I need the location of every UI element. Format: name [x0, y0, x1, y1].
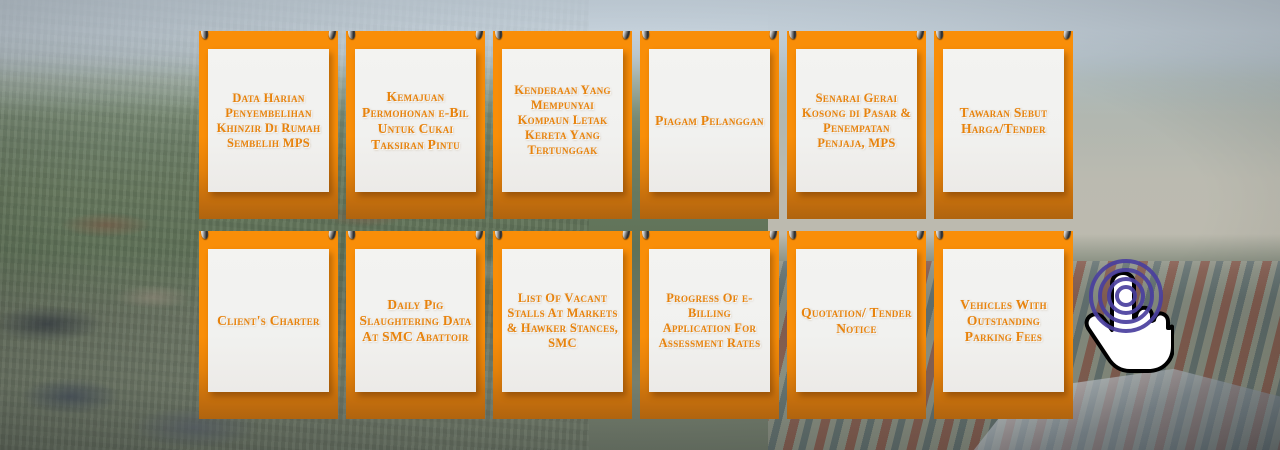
pushpin-icon [347, 231, 356, 239]
card-title: Data Harian Penyembelihan Khinzir Di Rum… [208, 91, 329, 151]
card-row-2: Client's Charter Daily Pig Slaughtering … [199, 231, 1079, 419]
dataset-card-progress-of-e-billing[interactable]: Progress Of e-Billing Application For As… [640, 231, 779, 419]
card-paper: List Of Vacant Stalls At Markets & Hawke… [502, 249, 623, 392]
pushpin-icon [769, 31, 778, 39]
pushpin-icon [916, 31, 925, 39]
pushpin-icon [641, 31, 650, 39]
card-title: Kemajuan Permohonan e-Bil Untuk Cukai Ta… [355, 89, 476, 153]
pushpin-icon [347, 31, 356, 39]
card-row-1: Data Harian Penyembelihan Khinzir Di Rum… [199, 31, 1079, 219]
card-paper: Kenderaan Yang Mempunyai Kompaun Letak K… [502, 49, 623, 192]
card-title: Vehicles With Outstanding Parking Fees [943, 297, 1064, 345]
card-paper: Piagam Pelanggan [649, 49, 770, 192]
card-title: Piagam Pelanggan [651, 113, 768, 129]
card-paper: Data Harian Penyembelihan Khinzir Di Rum… [208, 49, 329, 192]
card-title: Client's Charter [213, 313, 324, 329]
dataset-card-daily-pig-slaughtering-data[interactable]: Daily Pig Slaughtering Data At SMC Abatt… [346, 231, 485, 419]
screen-root: Data Harian Penyembelihan Khinzir Di Rum… [0, 0, 1280, 450]
dataset-card-quotation-tender-notice[interactable]: Quotation/ Tender Notice [787, 231, 926, 419]
card-paper: Quotation/ Tender Notice [796, 249, 917, 392]
card-paper: Vehicles With Outstanding Parking Fees [943, 249, 1064, 392]
card-paper: Progress Of e-Billing Application For As… [649, 249, 770, 392]
dataset-card-vehicles-outstanding-parking[interactable]: Vehicles With Outstanding Parking Fees [934, 231, 1073, 419]
dataset-card-list-of-vacant-stalls[interactable]: List Of Vacant Stalls At Markets & Hawke… [493, 231, 632, 419]
dataset-card-clients-charter[interactable]: Client's Charter [199, 231, 338, 419]
dataset-card-grid: Data Harian Penyembelihan Khinzir Di Rum… [199, 31, 1079, 419]
pushpin-icon [200, 231, 209, 239]
card-title: List Of Vacant Stalls At Markets & Hawke… [502, 291, 623, 351]
card-paper: Kemajuan Permohonan e-Bil Untuk Cukai Ta… [355, 49, 476, 192]
pushpin-icon [1063, 31, 1072, 39]
pushpin-icon [935, 31, 944, 39]
pushpin-icon [769, 231, 778, 239]
card-title: Daily Pig Slaughtering Data At SMC Abatt… [355, 297, 476, 345]
card-title: Kenderaan Yang Mempunyai Kompaun Letak K… [502, 83, 623, 158]
pushpin-icon [788, 231, 797, 239]
card-paper: Senarai Gerai Kosong di Pasar & Penempat… [796, 49, 917, 192]
pushpin-icon [475, 31, 484, 39]
pushpin-icon [200, 31, 209, 39]
dataset-card-senarai-gerai-kosong[interactable]: Senarai Gerai Kosong di Pasar & Penempat… [787, 31, 926, 219]
pushpin-icon [475, 231, 484, 239]
pushpin-icon [1063, 231, 1072, 239]
card-paper: Tawaran Sebut Harga/Tender [943, 49, 1064, 192]
pushpin-icon [788, 31, 797, 39]
pushpin-icon [916, 231, 925, 239]
pushpin-icon [494, 231, 503, 239]
pushpin-icon [328, 231, 337, 239]
card-title: Senarai Gerai Kosong di Pasar & Penempat… [796, 91, 917, 151]
pushpin-icon [935, 231, 944, 239]
card-paper: Daily Pig Slaughtering Data At SMC Abatt… [355, 249, 476, 392]
dataset-card-kenderaan-kompaun-letak-kereta[interactable]: Kenderaan Yang Mempunyai Kompaun Letak K… [493, 31, 632, 219]
card-title: Quotation/ Tender Notice [796, 305, 917, 337]
card-title: Progress Of e-Billing Application For As… [649, 291, 770, 351]
dataset-card-tawaran-sebut-harga-tender[interactable]: Tawaran Sebut Harga/Tender [934, 31, 1073, 219]
dataset-card-piagam-pelanggan[interactable]: Piagam Pelanggan [640, 31, 779, 219]
dataset-card-data-harian-penyembelihan[interactable]: Data Harian Penyembelihan Khinzir Di Rum… [199, 31, 338, 219]
dataset-card-kemajuan-permohonan-e-bil[interactable]: Kemajuan Permohonan e-Bil Untuk Cukai Ta… [346, 31, 485, 219]
card-paper: Client's Charter [208, 249, 329, 392]
pushpin-icon [622, 231, 631, 239]
card-title: Tawaran Sebut Harga/Tender [943, 105, 1064, 137]
pushpin-icon [494, 31, 503, 39]
pushpin-icon [641, 231, 650, 239]
pushpin-icon [328, 31, 337, 39]
pushpin-icon [622, 31, 631, 39]
